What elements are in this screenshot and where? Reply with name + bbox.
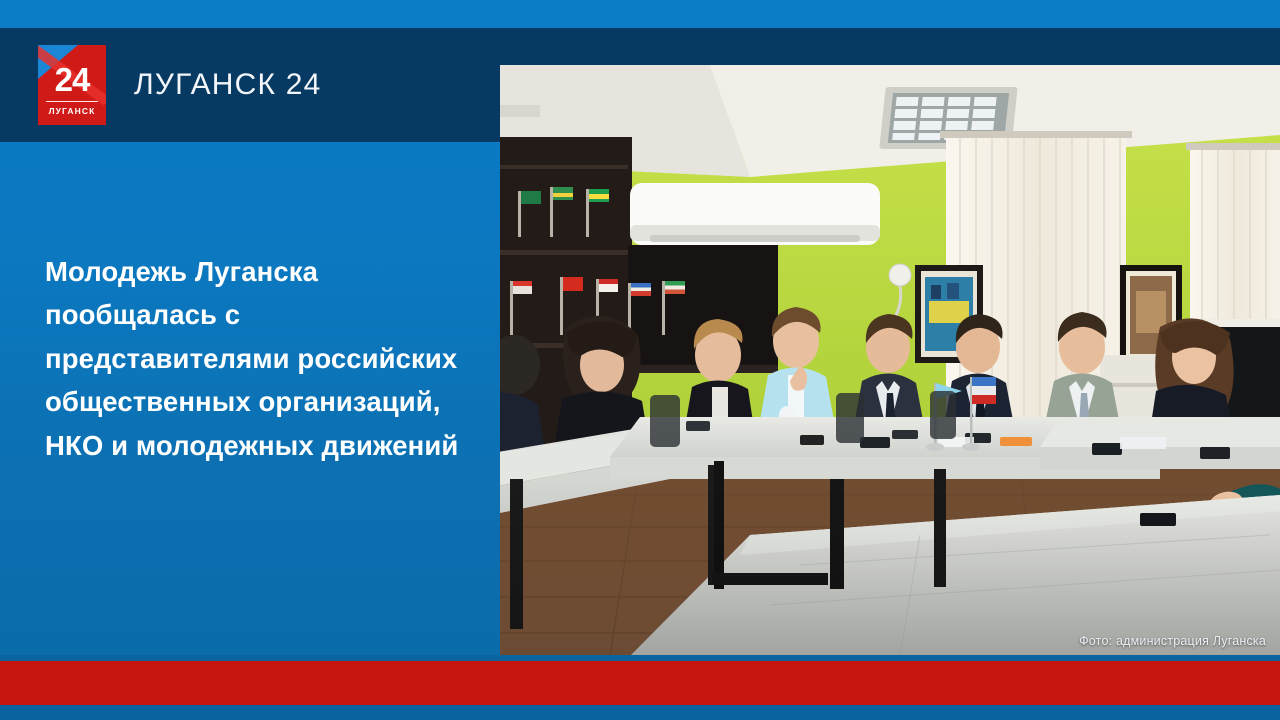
logo-divider xyxy=(46,101,98,103)
channel-name: ЛУГАНСК 24 xyxy=(134,68,322,102)
news-photo xyxy=(500,65,1280,656)
top-accent-strip xyxy=(0,0,1280,28)
logo-number: 24 xyxy=(38,63,106,96)
logo-subtitle: ЛУГАНСК xyxy=(38,106,106,116)
channel-logo[interactable]: 24 ЛУГАНСК xyxy=(38,45,106,125)
news-card: 24 ЛУГАНСК ЛУГАНСК 24 Молодежь Луганска … xyxy=(0,0,1280,720)
brand-block: 24 ЛУГАНСК ЛУГАНСК 24 xyxy=(38,45,322,125)
bottom-band-red xyxy=(0,661,1280,705)
headline-text: Молодежь Луганска пообщалась с представи… xyxy=(45,250,485,467)
photo-illustration xyxy=(500,65,1280,656)
bottom-band-blue-lower xyxy=(0,705,1280,720)
